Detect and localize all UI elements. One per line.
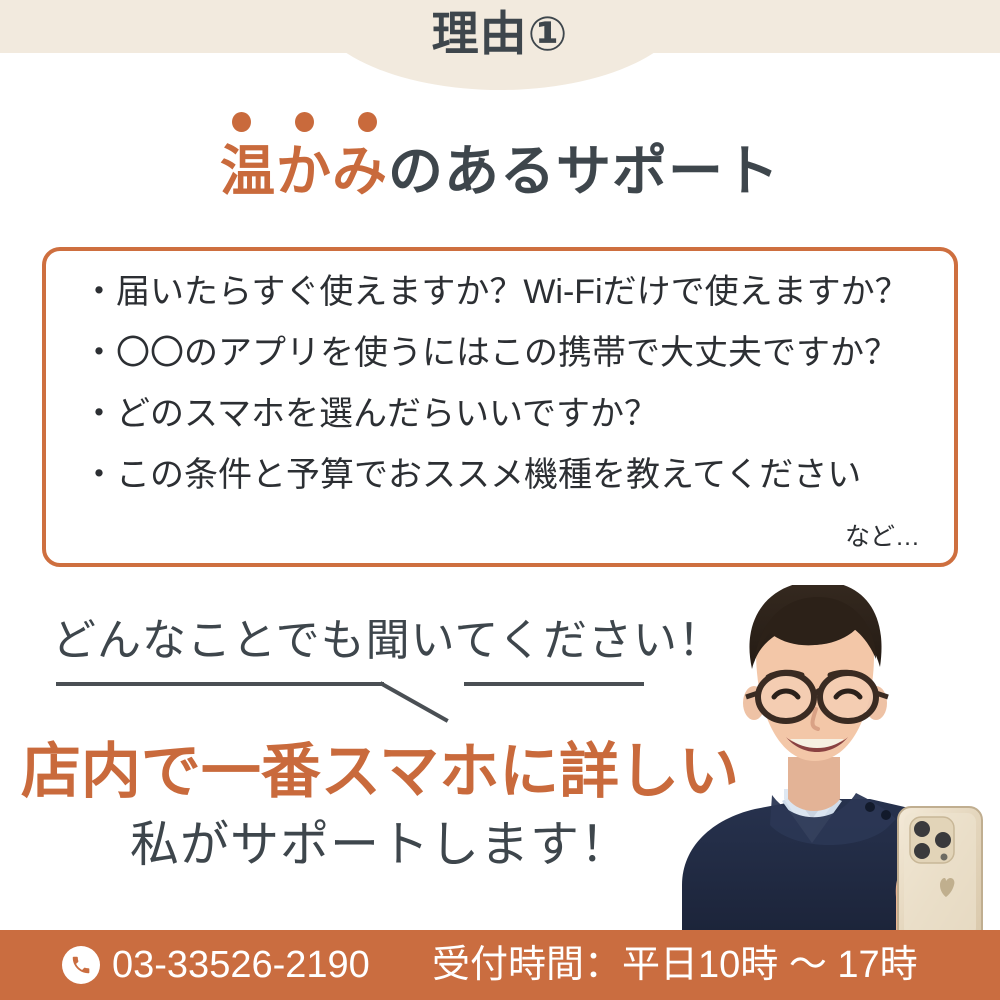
phone-icon-badge [62, 946, 100, 984]
poster-root: 理由① 温かみのあるサポート ・届いたらすぐ使えますか？Wi-Fiだけで使えます… [0, 0, 1000, 1000]
question-list: ・届いたらすぐ使えますか？Wi-Fiだけで使えますか？ ・〇〇のアプリを使うには… [82, 275, 936, 519]
ask-anything-text: どんなことでも聞いてください！ [52, 604, 723, 668]
camera-lens [914, 843, 930, 859]
question-list-suffix: など… [845, 517, 920, 553]
claim-headline: 店内で一番スマホに詳しい [20, 740, 740, 803]
business-hours-text: 受付時間：平日10時 ～ 17時 [432, 944, 918, 986]
emphasis-dot-icon [232, 112, 251, 132]
flash-icon [941, 854, 948, 861]
list-item: ・この条件と予算でおススメ機種を教えてください [82, 458, 936, 492]
neck [788, 757, 840, 811]
smartphone [898, 807, 982, 943]
emphasis-dot-icon [295, 112, 314, 132]
contact-footer-bar: 03-33526-2190 受付時間：平日10時 ～ 17時 [0, 930, 1000, 1000]
camera-lens [935, 832, 951, 848]
emphasis-dots [232, 112, 422, 134]
phone-number-text[interactable]: 03-33526-2190 [112, 944, 370, 986]
sweater-button [865, 802, 875, 812]
emphasis-dot-icon [358, 112, 377, 132]
claim-subheadline: 私がサポートします！ [20, 820, 740, 871]
sweater-button [881, 810, 891, 820]
camera-lens [914, 821, 930, 837]
page-title: 温かみのあるサポート [0, 142, 1000, 201]
reason-badge-label: 理由① [0, 10, 1000, 57]
speech-tail-rule-icon [50, 660, 670, 730]
list-item: ・どのスマホを選んだらいいですか？ [82, 397, 936, 431]
list-item: ・届いたらすぐ使えますか？Wi-Fiだけで使えますか？ [82, 275, 936, 309]
list-item: ・〇〇のアプリを使うにはこの携帯で大丈夫ですか？ [82, 336, 936, 370]
question-list-box: ・届いたらすぐ使えますか？Wi-Fiだけで使えますか？ ・〇〇のアプリを使うには… [42, 247, 958, 567]
headline-rest-text: のあるサポート [388, 140, 780, 202]
phone-handset-icon [70, 954, 92, 976]
headline-accent-text: 温かみ [220, 140, 388, 202]
